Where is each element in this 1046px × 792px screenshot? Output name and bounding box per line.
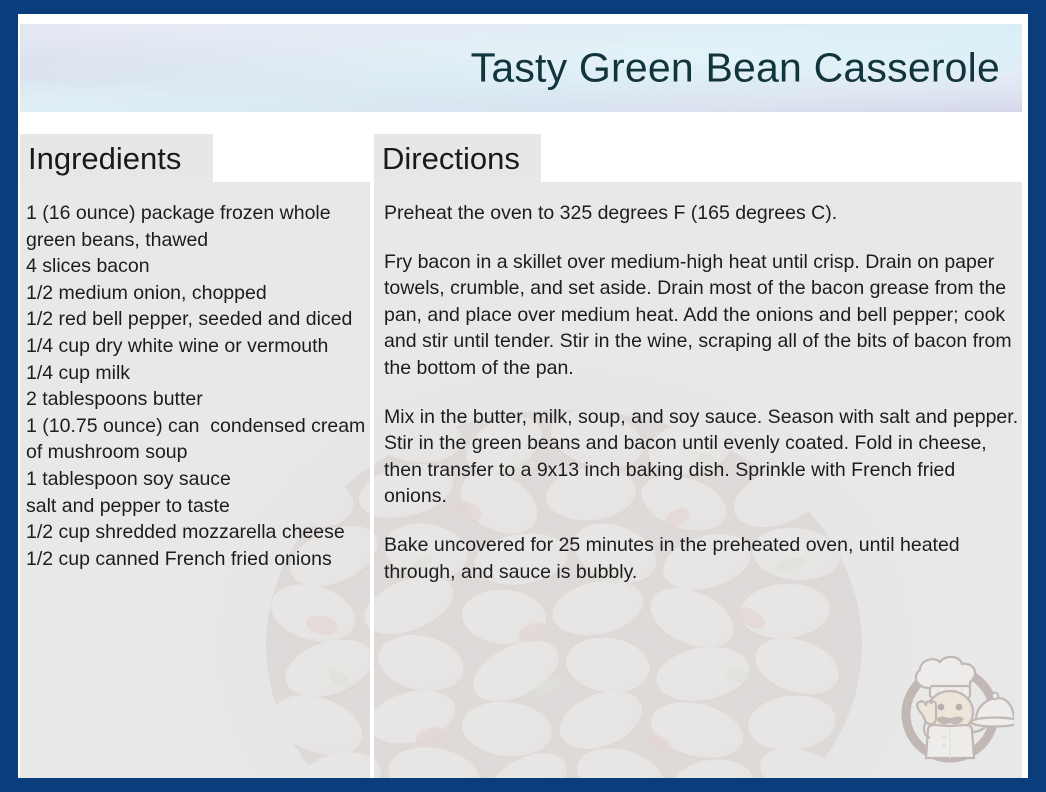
title-banner: Tasty Green Bean Casserole: [20, 24, 1022, 112]
list-item: 1/2 red bell pepper, seeded and diced: [26, 306, 366, 333]
list-item: 2 tablespoons butter: [26, 386, 366, 413]
ingredients-header-notch: [213, 134, 370, 182]
list-item: 1/2 medium onion, chopped: [26, 280, 366, 307]
list-item: 1/2 cup shredded mozzarella cheese: [26, 519, 366, 546]
list-item: 1 (16 ounce) package frozen whole green …: [26, 200, 366, 253]
directions-heading: Directions: [382, 141, 520, 177]
list-item: salt and pepper to taste: [26, 493, 366, 520]
list-item: 1 (10.75 ounce) can condensed cream of m…: [26, 413, 366, 466]
list-item: 1 tablespoon soy sauce: [26, 466, 366, 493]
list-item: 1/2 cup canned French fried onions: [26, 546, 366, 573]
recipe-card: Tasty Green Bean Casserole: [0, 0, 1046, 792]
directions-header-notch: [541, 134, 1022, 182]
ingredients-list: 1 (16 ounce) package frozen whole green …: [26, 200, 366, 572]
direction-step: Mix in the butter, milk, soup, and soy s…: [384, 404, 1020, 510]
list-item: 4 slices bacon: [26, 253, 366, 280]
direction-step: Fry bacon in a skillet over medium-high …: [384, 249, 1020, 382]
list-item: 1/4 cup milk: [26, 360, 366, 387]
ingredients-heading: Ingredients: [28, 141, 181, 177]
chef-mascot-icon: [886, 642, 1014, 770]
direction-step: Bake uncovered for 25 minutes in the pre…: [384, 532, 1020, 585]
recipe-title: Tasty Green Bean Casserole: [471, 45, 1000, 92]
list-item: 1/4 cup dry white wine or vermouth: [26, 333, 366, 360]
card-inner: Tasty Green Bean Casserole: [18, 14, 1028, 778]
directions-steps: Preheat the oven to 325 degrees F (165 d…: [384, 200, 1020, 607]
direction-step: Preheat the oven to 325 degrees F (165 d…: [384, 200, 1020, 227]
